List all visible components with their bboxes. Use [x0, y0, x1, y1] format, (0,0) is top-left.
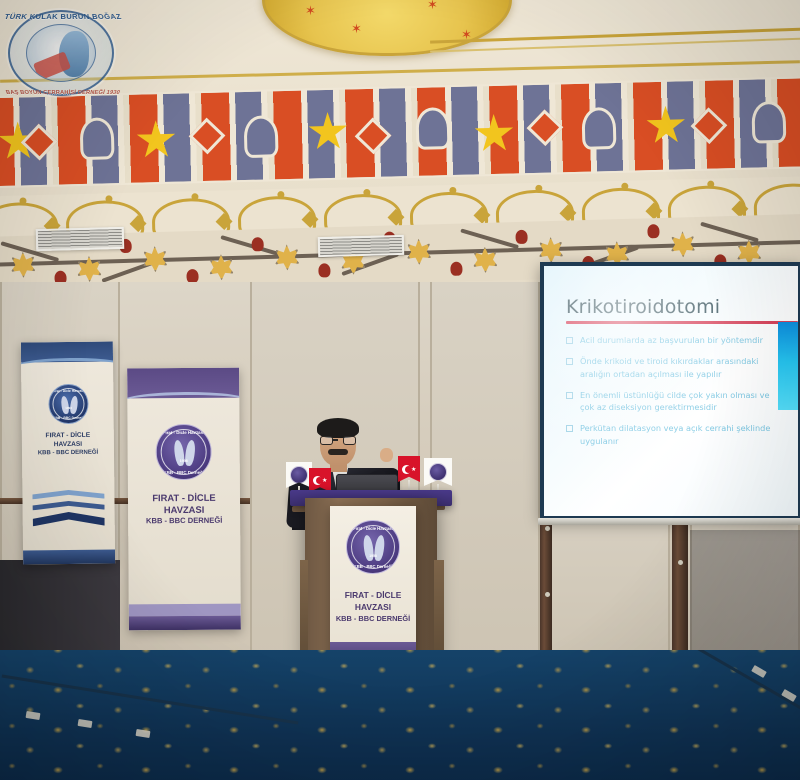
checkbox-bullet-icon [566, 358, 573, 365]
association-emblem-icon [290, 466, 308, 484]
hvac-vent-grille [36, 227, 125, 251]
roll-up-banner-center: Fırat - Dicle Havzası KBB - BBC Derneği … [127, 368, 241, 631]
organization-watermark: TÜRK KULAK BURUN BOĞAZ BAŞ BOYUN CERRAHİ… [4, 4, 122, 102]
podium-banner-line-2: HAVZASI [330, 602, 416, 613]
projected-slide: Krikotiroidotomi Acil durumlarda az başv… [544, 266, 798, 516]
speaker-hand [380, 448, 393, 462]
podium-banner-line-1: FIRAT - DİCLE [330, 590, 416, 601]
logo-bottom-text: KBB - BBC Derneği [50, 416, 88, 420]
logo-top-text: Fırat - Dicle Havzası [49, 389, 87, 393]
projection-screen: Krikotiroidotomi Acil durumlarda az başv… [540, 262, 800, 520]
slide-bullet-text: Önde krikoid ve tiroid kıkırdaklar arası… [580, 355, 784, 380]
wall-shadow-strip [690, 530, 800, 658]
slide-title: Krikotiroidotomi [566, 296, 784, 318]
wall-screw [545, 526, 550, 531]
star-ornament-icon: ✶ [351, 21, 362, 37]
roll-up-banner-left: Fırat - Dicle Havzası KBB - BBC Derneği … [21, 342, 115, 565]
checkbox-bullet-icon [566, 392, 573, 399]
logo-top-text: Fırat - Dicle Havzası [347, 526, 399, 531]
banner-line-1: FIRAT - DİCLE [128, 492, 240, 505]
flag-base [292, 506, 306, 512]
watermark-bottom-text: BAŞ BOYUN CERRAHİSİ DERNEĞİ 1930 [3, 90, 123, 96]
banner-footer-bar [129, 616, 241, 631]
banner-line-2: HAVZASI [22, 441, 114, 450]
association-logo-center: Fırat - Dicle Havzası KBB - BBC Derneği … [155, 424, 211, 480]
slide-bullet-text: Perkütan dilatasyon veya açık cerrahi şe… [580, 422, 784, 447]
logo-year: 1998 [50, 406, 88, 410]
speaker-hair [317, 418, 359, 438]
podium-banner-line-3: KBB - BBC DERNEĞİ [330, 614, 416, 623]
watermark-top-text: TÜRK KULAK BURUN BOĞAZ [2, 12, 123, 21]
slide-bullet-item: Önde krikoid ve tiroid kıkırdaklar arası… [566, 355, 784, 380]
logo-year: 1998 [347, 554, 399, 558]
banner-line-3: KBB - BBC DERNEĞİ [128, 516, 240, 526]
eyeglasses-right-lens-icon [343, 436, 356, 445]
banner-swoosh [127, 392, 241, 413]
banner-accent-bar [129, 604, 241, 617]
hvac-vent-grille [318, 235, 404, 257]
banner-swoosh [21, 357, 115, 374]
banner-line-1: FIRAT - DİCLE [22, 432, 114, 441]
slide-bullet-list: Acil durumlarda az başvurulan bir yöntem… [566, 334, 784, 447]
slide-bullet-text: Acil durumlarda az başvurulan bir yöntem… [580, 334, 763, 346]
star-ornament-icon: ✶ [305, 3, 316, 19]
logo-year: 1998 [157, 459, 211, 463]
star-ornament-icon: ✶ [427, 0, 438, 13]
checkbox-bullet-icon [566, 337, 573, 344]
association-logo-left: Fırat - Dicle Havzası KBB - BBC Derneği … [48, 384, 88, 424]
association-emblem-icon [429, 463, 447, 481]
banner-line-3: KBB - BBC DERNEĞİ [22, 450, 114, 458]
conference-photo: İstanbul ✶ ✶ ✶ ✶ [0, 0, 800, 780]
slide-bullet-text: En önemli üstünlüğü cilde çok yakın olma… [580, 389, 784, 414]
slide-bullet-item: Acil durumlarda az başvurulan bir yöntem… [566, 334, 784, 346]
wall-shadow-strip [0, 560, 120, 660]
wall-screw [678, 560, 683, 565]
watermark-red-accent [33, 51, 71, 80]
patterned-carpet [0, 650, 800, 780]
slide-content: Krikotiroidotomi Acil durumlarda az başv… [544, 266, 798, 516]
association-logo-podium: Fırat - Dicle Havzası KBB - BBC Derneği … [346, 520, 400, 574]
carpet-pattern [0, 650, 800, 780]
podium-banner: Fırat - Dicle Havzası KBB - BBC Derneği … [330, 506, 416, 672]
checkbox-bullet-icon [566, 425, 573, 432]
projection-screen-bottom-bar [538, 518, 800, 525]
slide-bullet-item: En önemli üstünlüğü cilde çok yakın olma… [566, 389, 784, 414]
istanbul-calligraphy-medallion: İstanbul ✶ ✶ ✶ ✶ [262, 0, 512, 56]
watermark-inner-emblem [26, 24, 96, 82]
speaker-moustache [328, 449, 348, 455]
eyeglasses-bridge-icon [332, 439, 338, 441]
wall-screw [545, 592, 550, 597]
banner-line-2: HAVZASI [128, 504, 240, 517]
slide-title-rule [566, 321, 798, 324]
logo-bottom-text: KBB - BBC Derneği [157, 469, 211, 474]
slide-side-image [778, 322, 798, 410]
istanbul-calligraphy-text: İstanbul [298, 0, 477, 53]
logo-top-text: Fırat - Dicle Havzası [157, 430, 211, 435]
slide-bullet-item: Perkütan dilatasyon veya açık cerrahi şe… [566, 422, 784, 447]
logo-bottom-text: KBB - BBC Derneği [347, 564, 399, 569]
banner-footer-bar [23, 550, 115, 565]
banner-chevron-graphic [32, 490, 104, 527]
